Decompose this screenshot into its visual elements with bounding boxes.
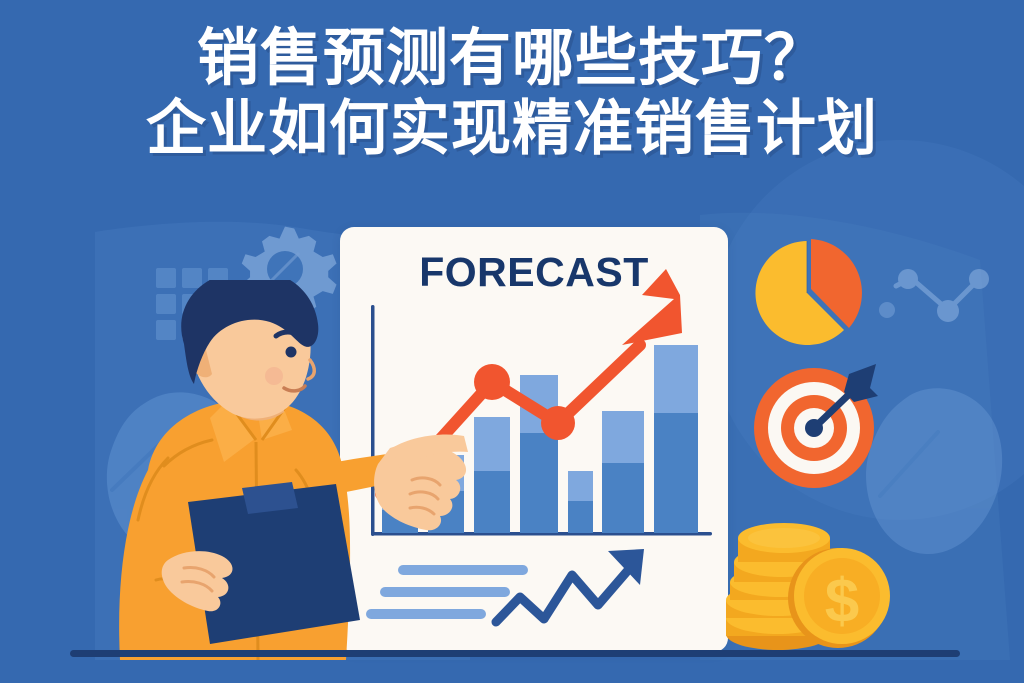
bar-5 [568,471,593,533]
pie-chart-icon [752,238,862,348]
banner-canvas: 销售预测有哪些技巧？ 企业如何实现精准销售计划 FORECAST [0,0,1024,683]
data-point-3 [541,406,575,440]
dollar-sign-icon: $ [788,548,890,648]
svg-text:$: $ [825,567,859,636]
bar-6 [602,411,644,533]
target-icon [752,362,880,490]
bar-7 [654,345,698,533]
head [181,280,318,419]
coin-stack-icon: $ [716,506,896,658]
trend-arrow-icon [622,269,682,345]
arrow-icon [844,364,878,402]
ground-line [70,650,960,657]
small-trend-arrow-icon [496,549,644,622]
person-illustration [60,280,480,660]
